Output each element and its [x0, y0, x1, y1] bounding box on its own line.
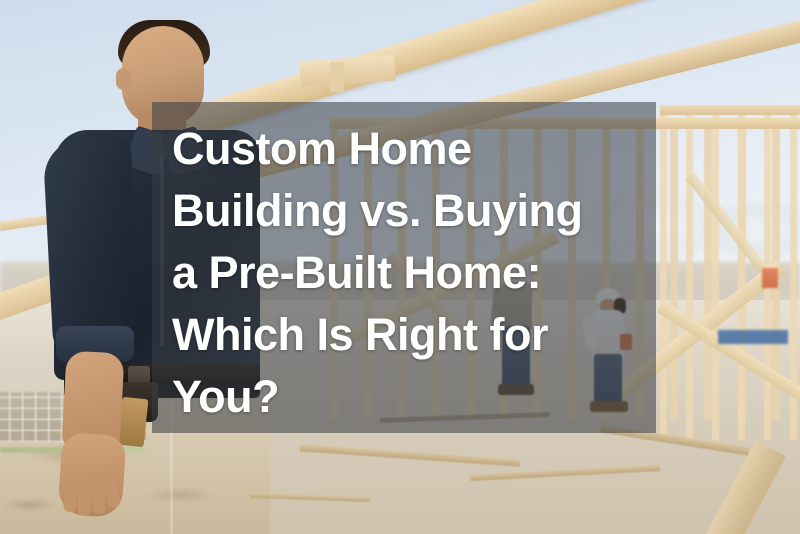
contractor-arm	[42, 136, 141, 356]
finger	[91, 480, 105, 514]
contractor-ear	[116, 68, 131, 90]
finger	[78, 482, 92, 516]
orange-bucket	[762, 268, 778, 288]
finger	[63, 478, 78, 513]
blue-tarp	[718, 330, 788, 344]
top-plate-right	[660, 105, 800, 115]
page-title: Custom Home Building vs. Buying a Pre-Bu…	[172, 118, 642, 428]
hero-banner: Custom Home Building vs. Buying a Pre-Bu…	[0, 0, 800, 534]
truss-post	[330, 62, 344, 92]
leather-tool-pouch	[118, 397, 149, 447]
